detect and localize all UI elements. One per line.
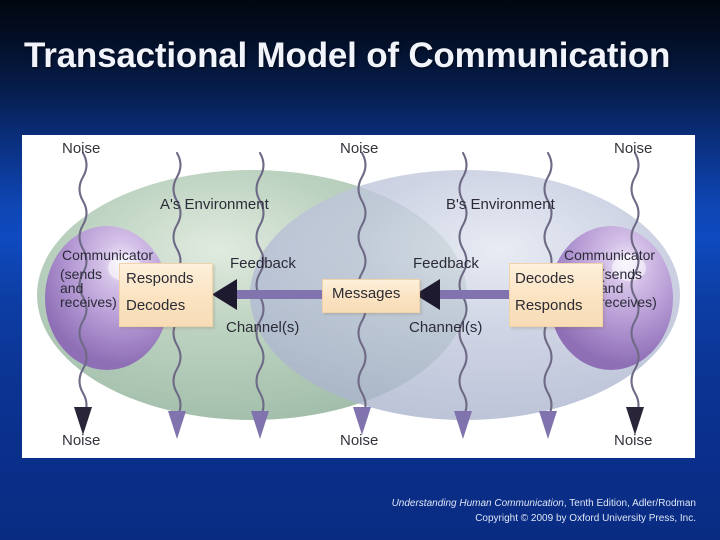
communicator-a-title: Communicator — [62, 248, 153, 263]
communicator-a-sub-3: receives) — [60, 295, 117, 310]
credit-line-2: Copyright © 2009 by Oxford University Pr… — [392, 512, 696, 527]
noise-label-bottom-left: Noise — [62, 433, 100, 449]
environment-a-label: A's Environment — [160, 197, 269, 213]
process-box-left-line-1: Responds — [126, 271, 194, 287]
credit-edition: , Tenth Edition, Adler/Rodman — [564, 498, 696, 509]
communicator-b-sub-3: receives) — [600, 295, 657, 310]
diagram-panel: Noise Noise Noise A's Environment B's En… — [22, 135, 695, 458]
page-title: Transactional Model of Communication — [24, 36, 696, 76]
feedback-label-right: Feedback — [413, 256, 479, 272]
process-box-right-line-1: Decodes — [515, 271, 574, 287]
noise-label-top-center: Noise — [340, 141, 378, 157]
noise-label-top-right: Noise — [614, 141, 652, 157]
slide-canvas: Transactional Model of Communication — [0, 0, 720, 540]
channel-label-left: Channel(s) — [226, 320, 299, 336]
process-box-right-line-2: Responds — [515, 298, 583, 314]
noise-label-top-left: Noise — [62, 141, 100, 157]
process-box-left-line-2: Decodes — [126, 298, 185, 314]
noise-label-bottom-right: Noise — [614, 433, 652, 449]
messages-box-label: Messages — [332, 286, 400, 302]
channel-label-right: Channel(s) — [409, 320, 482, 336]
credit-book-title: Understanding Human Communication — [392, 498, 564, 509]
credit-line-1: Understanding Human Communication, Tenth… — [392, 497, 696, 512]
noise-label-bottom-center: Noise — [340, 433, 378, 449]
environment-b-label: B's Environment — [446, 197, 555, 213]
feedback-label-left: Feedback — [230, 256, 296, 272]
communicator-b-title: Communicator — [564, 248, 655, 263]
credit-footer: Understanding Human Communication, Tenth… — [392, 497, 696, 526]
